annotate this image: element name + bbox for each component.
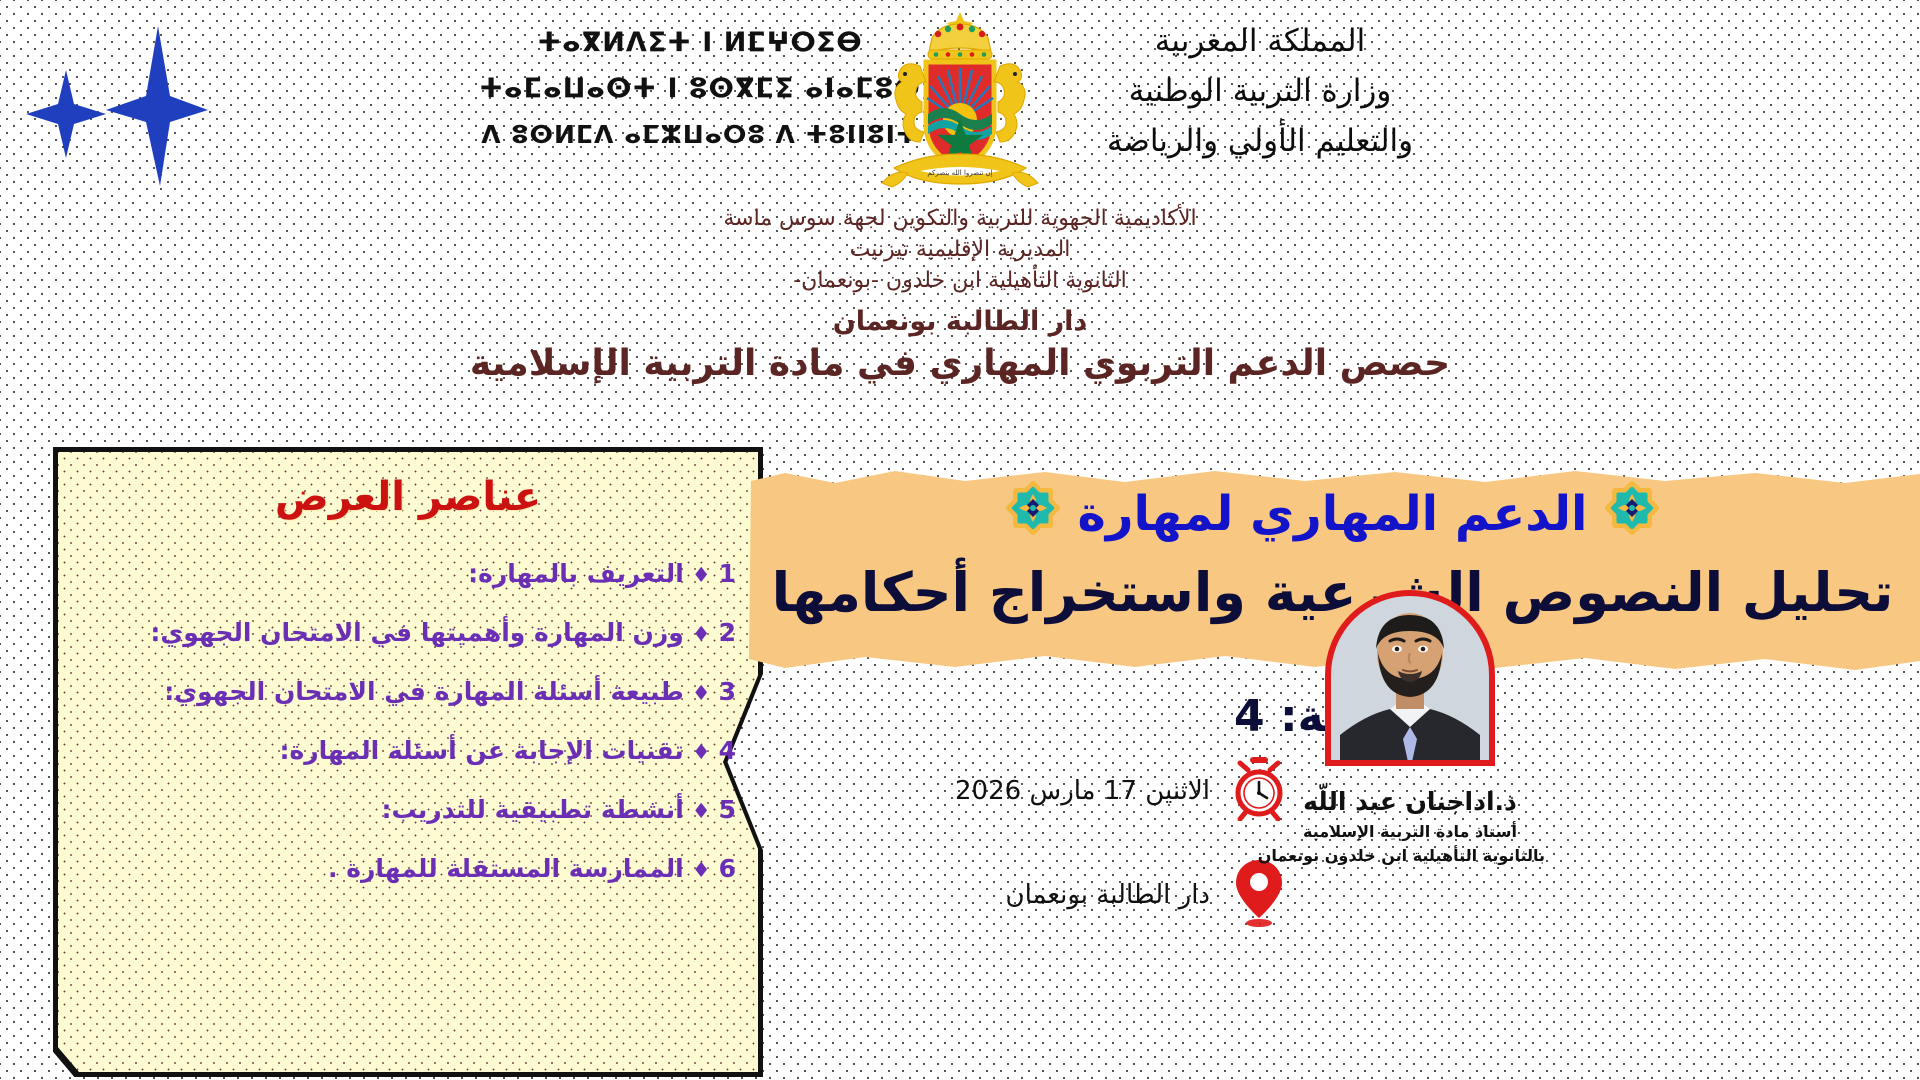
list-item[interactable]: 6 ♦ الممارسة المستقلة للمهارة . [74, 839, 742, 898]
slide-root: { "header": { "tifinagh": [ "ⵜⴰⴳⵍⴷⵉⵜ ⵏ ⵍ… [0, 0, 1920, 1080]
session-number: 4 [1234, 691, 1265, 742]
date-row: الاثنين 17 مارس 2026 [870, 755, 1290, 826]
teacher-workplace: بالثانوية التأهيلية ابن خلدون بونعمان [1275, 846, 1545, 865]
item-label: طبيعة أسئلة المهارة في الامتحان الجهوي: [164, 677, 684, 706]
academy-line: الأكاديمية الجهوية للتربية والتكوين لجهة… [0, 203, 1920, 234]
item-label: الممارسة المستقلة للمهارة . [328, 854, 684, 883]
banner-title-row: الدعم المهاري لمهارة [785, 479, 1880, 549]
teacher-portrait-photo [1310, 575, 1510, 775]
outline-panel-title: عناصر العرض [58, 474, 758, 520]
session-info-panel: الدعم المهاري لمهارة [745, 455, 1920, 1080]
teacher-card: ذ.اداجنان عبد اللّه أستاذ مادة التربية ا… [1275, 575, 1545, 865]
moroccan-coat-of-arms-icon: إن تنصروا الله ينصركم [860, 8, 1060, 193]
svg-text:إن تنصروا الله ينصركم: إن تنصروا الله ينصركم [927, 169, 992, 177]
page-header: ⵜⴰⴳⵍⴷⵉⵜ ⵏ ⵍⵎⵖⵔⵉⴱ ⵜⴰⵎⴰⵡⴰⵙⵜ ⵏ ⵓⵙⴳⵎⵉ ⴰⵏⴰⵎⵓⵔ… [0, 0, 1920, 210]
session-date: الاثنين 17 مارس 2026 [955, 776, 1210, 806]
list-item[interactable]: 3 ♦ طبيعة أسئلة المهارة في الامتحان الجه… [74, 662, 742, 721]
item-label: وزن المهارة وأهميتها في الامتحان الجهوي: [150, 618, 683, 647]
school-line: الثانوية التأهيلية ابن خلدون -بونعمان- [0, 265, 1920, 298]
location-row: دار الطالبة بونعمان [870, 856, 1290, 933]
item-number: 2 [719, 618, 736, 647]
diamond-bullet-icon: ♦ [692, 858, 711, 882]
ministry-line-2: وزارة التربية الوطنية [1035, 66, 1485, 116]
list-item[interactable]: 2 ♦ وزن المهارة وأهميتها في الامتحان الج… [74, 603, 742, 662]
item-number: 4 [719, 736, 736, 765]
map-pin-icon [1228, 856, 1290, 933]
teacher-name: ذ.اداجنان عبد اللّه [1275, 787, 1545, 816]
diamond-bullet-icon: ♦ [692, 622, 711, 646]
ministry-arabic-text: المملكة المغربية وزارة التربية الوطنية و… [1035, 16, 1485, 167]
star-ornament-icon-left [1004, 479, 1062, 549]
item-number: 6 [719, 854, 736, 883]
institution-line: دار الطالبة بونعمان [0, 306, 1920, 337]
banner-title-label: الدعم المهاري لمهارة [1078, 486, 1588, 542]
outline-items-list: 1 ♦ التعريف بالمهارة: 2 ♦ وزن المهارة وأ… [74, 544, 742, 898]
diamond-bullet-icon: ♦ [692, 563, 711, 587]
item-number: 5 [719, 795, 736, 824]
list-item[interactable]: 4 ♦ تقنيات الإجابة عن أسئلة المهارة: [74, 721, 742, 780]
diamond-bullet-icon: ♦ [692, 799, 711, 823]
item-number: 3 [719, 677, 736, 706]
presentation-outline-panel: عناصر العرض 1 ♦ التعريف بالمهارة: 2 ♦ وز… [58, 452, 758, 1072]
program-title: حصص الدعم التربوي المهاري في مادة التربي… [0, 343, 1920, 384]
institution-subheader: الأكاديمية الجهوية للتربية والتكوين لجهة… [0, 203, 1920, 384]
ministry-line-3: والتعليم الأولي والرياضة [1035, 116, 1485, 166]
ministry-line-1: المملكة المغربية [1035, 16, 1485, 66]
item-number: 1 [719, 559, 736, 588]
teacher-role: أستاذ مادة التربية الإسلامية [1275, 822, 1545, 841]
provincial-direction-line: المديرية الإقليمية تيزنيت [0, 234, 1920, 265]
item-label: التعريف بالمهارة: [468, 559, 684, 588]
diamond-bullet-icon: ♦ [692, 681, 711, 705]
session-meta-block: الاثنين 17 مارس 2026 دار الطالبة بونعمان [870, 755, 1290, 963]
list-item[interactable]: 5 ♦ أنشطة تطبيقية للتدريب: [74, 780, 742, 839]
star-ornament-icon-right [1603, 479, 1661, 549]
diamond-bullet-icon: ♦ [692, 740, 711, 764]
list-item[interactable]: 1 ♦ التعريف بالمهارة: [74, 544, 742, 603]
item-label: أنشطة تطبيقية للتدريب: [381, 795, 683, 824]
session-location: دار الطالبة بونعمان [1006, 880, 1210, 910]
item-label: تقنيات الإجابة عن أسئلة المهارة: [279, 736, 683, 765]
